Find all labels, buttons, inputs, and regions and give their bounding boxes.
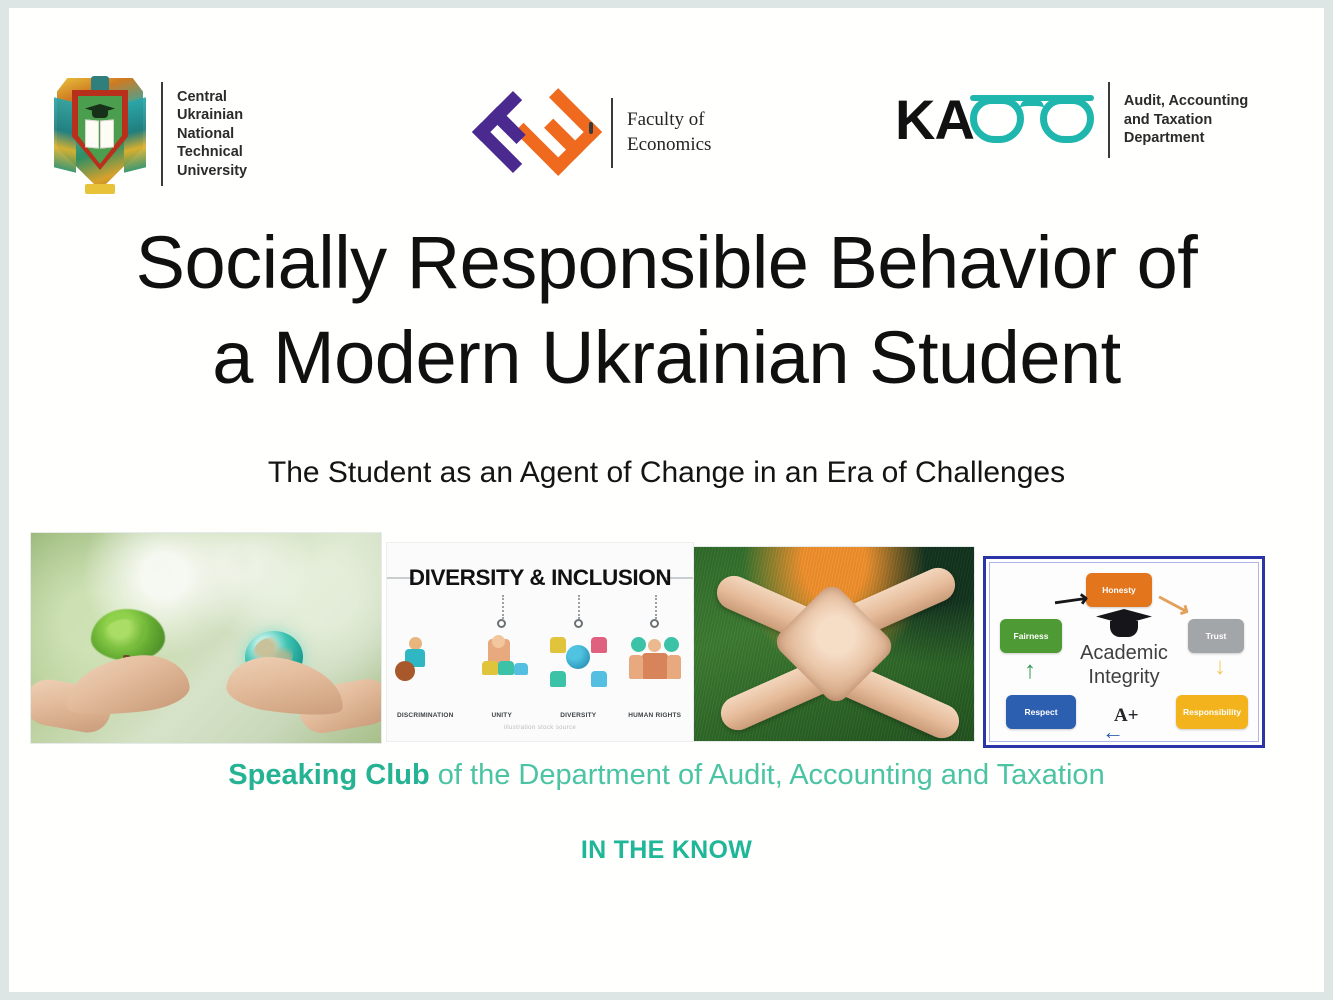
arrow-down-right-icon: ⟶ <box>1152 586 1194 623</box>
grade-mark: A+ <box>1114 705 1139 727</box>
speaking-club-rest: of the Department of Audit, Accounting a… <box>430 759 1105 791</box>
ai-box-responsibility: Responsibility <box>1176 695 1248 729</box>
ai-box-trust: Trust <box>1188 619 1244 653</box>
image-nature-hands-plant-globe <box>30 532 382 744</box>
di-label: UNITY <box>464 712 541 719</box>
ai-box-fairness: Fairness <box>1000 619 1062 653</box>
arrow-down-icon: ↓ <box>1214 655 1226 679</box>
slide-canvas: Central Ukrainian National Technical Uni… <box>9 8 1324 992</box>
slide-frame: Central Ukrainian National Technical Uni… <box>0 0 1333 1000</box>
image-diversity-inclusion-infographic: DIVERSITY & INCLUSION DISCRIMINATION <box>386 542 694 742</box>
di-label: DIVERSITY <box>540 712 617 719</box>
di-column-unity: UNITY <box>464 595 541 725</box>
di-label: HUMAN RIGHTS <box>617 712 694 719</box>
image-academic-integrity-diagram: Academic Integrity Honesty Trust Respons… <box>983 556 1265 748</box>
di-column-discrimination: DISCRIMINATION <box>387 595 464 725</box>
ai-box-respect: Respect <box>1006 695 1076 729</box>
tagline-in-the-know: IN THE KNOW <box>9 836 1324 865</box>
di-column-human-rights: HUMAN RIGHTS <box>617 595 694 725</box>
speaking-club-line: Speaking Club of the Department of Audit… <box>9 756 1324 794</box>
di-label: DISCRIMINATION <box>387 712 464 719</box>
graduation-cap-icon <box>1096 609 1152 639</box>
ai-box-honesty: Honesty <box>1086 573 1152 607</box>
diversity-inclusion-heading: DIVERSITY & INCLUSION <box>387 565 693 591</box>
di-credit: illustration stock source <box>387 725 693 731</box>
speaking-club-strong: Speaking Club <box>228 759 429 791</box>
arrow-up-icon: ↑ <box>1024 659 1036 683</box>
arrow-up-right-icon: ⟶ <box>1052 587 1089 616</box>
image-four-hands-teamwork <box>693 546 975 742</box>
di-column-diversity: DIVERSITY <box>540 595 617 725</box>
